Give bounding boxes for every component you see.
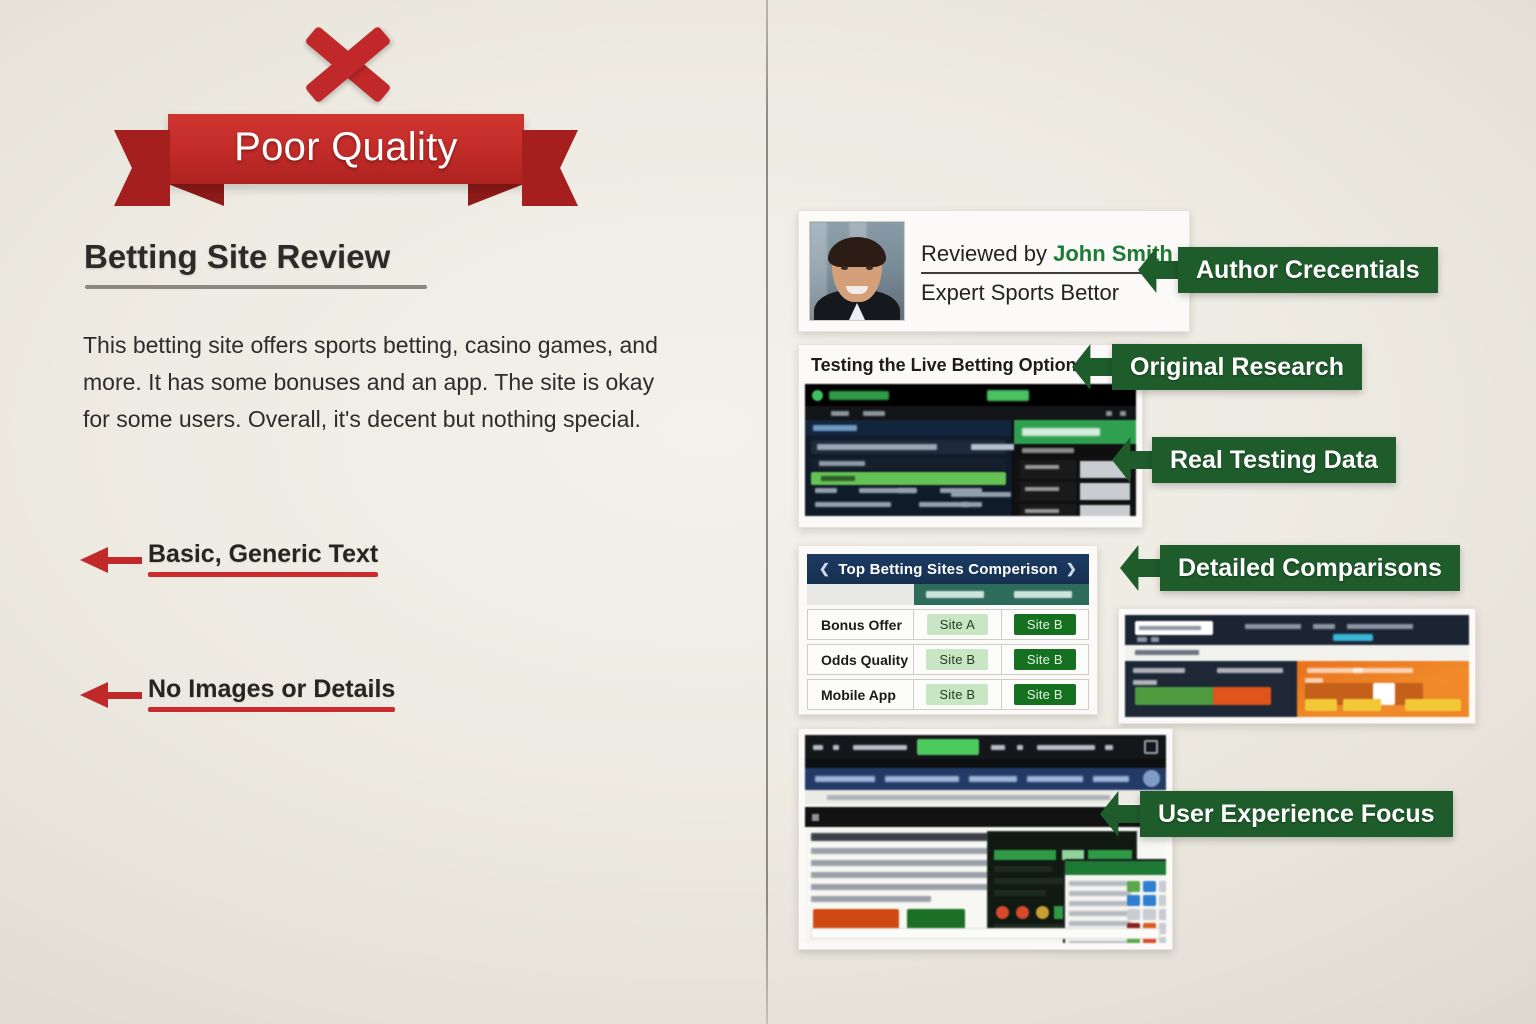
author-divider-rule [921,272,1149,274]
screenshot-columns [805,420,1136,516]
avatar-eye-left [841,266,848,270]
callout-label-text: No Images or Details [148,675,395,703]
callout-label-text: Basic, Generic Text [148,540,378,568]
dashboard-yellow-chip [1405,699,1461,711]
value-pill: Site B [1014,684,1076,705]
arrow-left-icon [80,682,142,708]
author-credentials-card: Reviewed by John Smith Expert Sports Bet… [798,210,1190,332]
value-pill: Site B [1014,649,1076,670]
callout-underline [148,707,395,712]
content-paragraph-line [811,872,1007,878]
author-portrait-avatar [809,221,905,321]
arrow-shaft [102,557,142,564]
dashboard-yellow-chip [1343,699,1381,711]
dashboard-search-field [1135,621,1213,635]
annotation-label-text: Author Crecentials [1178,247,1438,293]
browser-window-icon[interactable] [1144,740,1158,754]
browser-and-mobile-ux-screenshot [805,735,1166,943]
row-feature-label: Mobile App [807,679,914,710]
annotation-detailed-comparisons: Detailed Comparisons [1120,545,1460,591]
annotation-author-credentials: Author Crecentials [1138,247,1438,293]
site-logo-icon [1143,770,1160,787]
content-secondary-button[interactable] [907,909,965,929]
side-list-item [1020,504,1130,516]
site-navbar [805,768,1166,790]
comparison-subheader-row [807,584,1089,605]
annotation-label-text: Original Research [1112,344,1362,390]
annotation-label-text: Real Testing Data [1152,437,1396,483]
table-row: Mobile App Site B Site B [807,679,1089,710]
arrow-shaft [1138,559,1160,577]
screenshot-logo-icon [812,390,823,401]
row-value-site-a: Site B [914,679,1001,710]
value-pill: Site B [1014,614,1076,635]
row-value-site-b: Site B [1002,609,1089,640]
row-value-site-a: Site B [914,644,1001,675]
callout-underline [148,572,378,577]
screenshot-row [811,458,1006,469]
comparison-table-header: ❮ Top Betting Sites Comperison ❯ [807,554,1089,584]
annotation-label-text: User Experience Focus [1140,791,1453,837]
dashboard-breadcrumb-bar [1125,645,1469,661]
site-footer-bar [811,928,1160,939]
annotation-real-testing-data: Real Testing Data [1112,437,1396,483]
arrow-head [80,682,108,708]
x-mark-icon [300,28,396,100]
arrow-shaft [1156,261,1178,279]
row-value-site-b: Site B [1002,679,1089,710]
ribbon-tail-left [114,130,170,206]
screenshot-row [811,440,1006,454]
site-content-area [805,827,1166,937]
screenshot-brand-text [829,391,889,400]
screenshot-data-grid [811,488,1006,514]
callout-basic-generic-text: Basic, Generic Text [80,540,378,577]
comparison-table-card: ❮ Top Betting Sites Comperison ❯ Bonus O… [798,545,1098,715]
browser-toolbar [805,759,1166,768]
arrow-shaft [102,692,142,699]
user-experience-screenshot-card [798,728,1173,950]
dashboard-yellow-chip [1305,699,1337,711]
comparison-table-title: Top Betting Sites Comperison [838,561,1058,578]
article-body-text: This betting site offers sports betting,… [83,327,683,438]
content-paragraph-line [811,848,1007,854]
arrow-head [80,547,108,573]
browser-tabbar [805,735,1166,759]
dashboard-panes [1125,661,1469,717]
ribbon-tail-right [522,130,578,206]
dashboard-orange-button[interactable] [1213,687,1271,705]
row-feature-label: Odds Quality [807,644,914,675]
ribbon-fold-left [168,184,224,206]
dark-orange-dashboard-screenshot [1125,615,1469,717]
annotation-label-text: Detailed Comparisons [1160,545,1460,591]
browser-active-tab[interactable] [917,739,979,755]
arrow-shaft [1118,805,1140,823]
content-heading [811,833,1007,841]
table-row: Odds Quality Site B Site B [807,644,1089,675]
content-paragraph-line [811,860,1007,866]
poor-quality-ribbon-label: Poor Quality [234,125,458,173]
annotation-original-research: Original Research [1072,344,1362,390]
reviewed-by-prefix: Reviewed by [921,241,1053,266]
subheader-column-b [1002,584,1089,605]
value-pill: Site B [926,684,988,705]
side-list-item [1020,482,1130,501]
subheader-blank-cell [807,584,914,605]
arrow-shaft [1090,358,1112,376]
author-text-block: Reviewed by John Smith Expert Sports Bet… [921,221,1173,321]
content-paragraph-line [811,884,1007,890]
dashboard-badge [1333,634,1373,641]
content-paragraph-line [811,896,931,902]
annotation-user-experience-focus: User Experience Focus [1100,791,1453,837]
callout-label: Basic, Generic Text [148,540,378,577]
comparison-infographic: Poor Quality Betting Site Review This be… [0,0,1536,1024]
row-value-site-b: Site B [1002,644,1089,675]
screenshot-subbar [805,406,1136,420]
ribbon-fold-right [468,184,524,206]
callout-label: No Images or Details [148,675,395,712]
poor-quality-ribbon: Poor Quality [168,114,524,184]
table-row: Bonus Offer Site A Site B [807,609,1089,640]
arrow-left-icon [80,547,142,573]
arrow-shaft [1130,451,1152,469]
author-role: Expert Sports Bettor [921,280,1173,306]
screenshot-main-column [805,420,1014,516]
high-quality-panel: High Quality Reviewed by John Smith Expe… [766,0,1536,1024]
column-header [805,420,1012,436]
reviewed-by-line: Reviewed by John Smith [921,241,1173,267]
dashboard-topbar [1125,615,1469,645]
callout-no-images-or-details: No Images or Details [80,675,395,712]
dashboard-pane-dark [1125,661,1297,717]
avatar-eye-right [866,266,873,270]
page-title: Betting Site Review [84,238,390,276]
chevron-left-icon[interactable]: ❮ [819,561,830,577]
mobile-header [1065,861,1166,875]
value-pill: Site A [927,614,988,635]
screenshot-nav-text [987,390,1029,401]
live-betting-screenshot [805,384,1136,516]
value-pill: Site B [926,649,988,670]
dashboard-screenshot-card [1118,608,1476,724]
row-feature-label: Bonus Offer [807,609,914,640]
subheader-column-a [914,584,1001,605]
dashboard-pane-orange [1297,661,1469,717]
row-value-site-a: Site A [914,609,1001,640]
poor-quality-panel: Poor Quality Betting Site Review This be… [0,0,766,1024]
screenshot-highlight-row [811,472,1006,485]
chevron-right-icon[interactable]: ❯ [1066,561,1077,577]
content-primary-button[interactable] [813,909,899,929]
title-underline [85,285,427,289]
